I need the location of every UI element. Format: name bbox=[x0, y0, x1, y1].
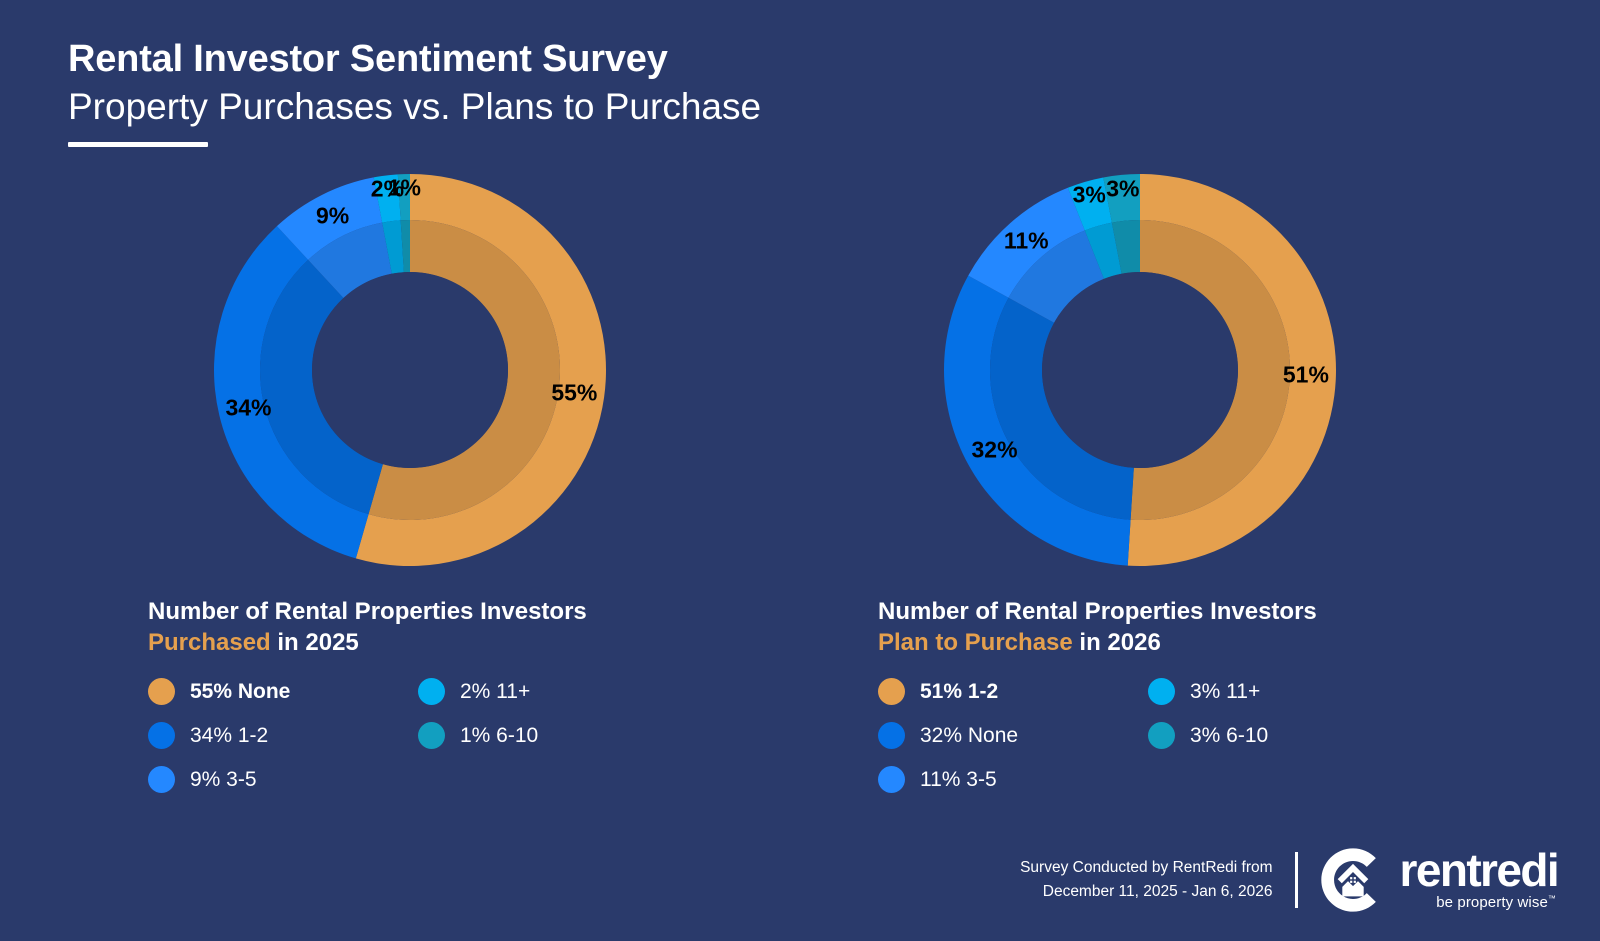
legend-item[interactable]: 3% 6-10 bbox=[1148, 722, 1418, 749]
legend-item-label: 55% None bbox=[190, 680, 290, 704]
donut-svg bbox=[940, 170, 1340, 570]
legend-item[interactable]: 9% 3-5 bbox=[148, 766, 418, 793]
rentredi-logo: rentredi be property wise™ bbox=[1320, 847, 1558, 913]
header: Rental Investor Sentiment Survey Propert… bbox=[68, 40, 761, 147]
legend-title-line1: Number of Rental Properties Investors bbox=[148, 598, 587, 625]
legend-item[interactable]: 51% 1-2 bbox=[878, 678, 1148, 705]
legend-item-label: 1% 6-10 bbox=[460, 724, 538, 748]
legend-item[interactable]: 1% 6-10 bbox=[418, 722, 688, 749]
legend-color-swatch-icon bbox=[148, 678, 175, 705]
legend-color-swatch-icon bbox=[878, 722, 905, 749]
footer: Survey Conducted by RentRedi from Decemb… bbox=[1020, 847, 1558, 913]
legend-color-swatch-icon bbox=[418, 678, 445, 705]
donut-center-hole bbox=[1042, 272, 1238, 468]
legend-item[interactable]: 3% 11+ bbox=[1148, 678, 1418, 705]
legend-grid-plan-2026: 51% 1-23% 11+32% None3% 6-1011% 3-5 bbox=[878, 678, 1490, 793]
survey-attribution: Survey Conducted by RentRedi from Decemb… bbox=[1020, 856, 1272, 904]
legend-color-swatch-icon bbox=[878, 766, 905, 793]
infographic-canvas: Rental Investor Sentiment Survey Propert… bbox=[0, 0, 1600, 941]
legend-color-swatch-icon bbox=[878, 678, 905, 705]
legend-item[interactable]: 34% 1-2 bbox=[148, 722, 418, 749]
legend-spacer bbox=[1148, 766, 1418, 793]
chart-panel-plan-2026: 51%32%11%3%3% Number of Rental Propertie… bbox=[790, 170, 1490, 793]
legend-item[interactable]: 11% 3-5 bbox=[878, 766, 1148, 793]
legend-purchased-2025: Number of Rental Properties Investors Pu… bbox=[60, 596, 760, 793]
legend-item-label: 11% 3-5 bbox=[920, 768, 997, 792]
legend-title-highlight: Plan to Purchase bbox=[878, 629, 1073, 656]
logo-tagline: be property wise™ bbox=[1436, 894, 1556, 911]
title-underline-rule bbox=[68, 142, 208, 147]
legend-color-swatch-icon bbox=[148, 766, 175, 793]
legend-item-label: 3% 6-10 bbox=[1190, 724, 1268, 748]
legend-item-label: 51% 1-2 bbox=[920, 680, 998, 704]
logo-word: rentredi bbox=[1400, 849, 1558, 893]
legend-item[interactable]: 2% 11+ bbox=[418, 678, 688, 705]
legend-title-highlight: Purchased bbox=[148, 629, 271, 656]
legend-color-swatch-icon bbox=[1148, 678, 1175, 705]
legend-item-label: 32% None bbox=[920, 724, 1018, 748]
donut-center-hole bbox=[312, 272, 508, 468]
footer-divider bbox=[1295, 852, 1298, 908]
legend-grid-purchased-2025: 55% None2% 11+34% 1-21% 6-109% 3-5 bbox=[148, 678, 760, 793]
legend-item-label: 2% 11+ bbox=[460, 680, 530, 704]
attribution-line-1: Survey Conducted by RentRedi from bbox=[1020, 856, 1272, 880]
legend-title-purchased-2025: Number of Rental Properties Investors Pu… bbox=[148, 596, 760, 658]
legend-title-line1: Number of Rental Properties Investors bbox=[878, 598, 1317, 625]
donut-chart-plan-2026: 51%32%11%3%3% bbox=[940, 170, 1340, 570]
legend-color-swatch-icon bbox=[1148, 722, 1175, 749]
page-subtitle: Property Purchases vs. Plans to Purchase bbox=[68, 86, 761, 129]
legend-item-label: 3% 11+ bbox=[1190, 680, 1260, 704]
legend-item-label: 9% 3-5 bbox=[190, 768, 257, 792]
legend-color-swatch-icon bbox=[148, 722, 175, 749]
rentredi-wordmark: rentredi be property wise™ bbox=[1400, 849, 1558, 912]
legend-title-plan-2026: Number of Rental Properties Investors Pl… bbox=[878, 596, 1490, 658]
logo-tagline-text: be property wise bbox=[1436, 894, 1548, 911]
legend-item[interactable]: 32% None bbox=[878, 722, 1148, 749]
rentredi-house-circle-icon bbox=[1320, 847, 1386, 913]
chart-panel-purchased-2025: 55%34%9%2%1% Number of Rental Properties… bbox=[60, 170, 760, 793]
legend-item[interactable]: 55% None bbox=[148, 678, 418, 705]
attribution-line-2: December 11, 2025 - Jan 6, 2026 bbox=[1020, 880, 1272, 904]
page-title: Rental Investor Sentiment Survey bbox=[68, 40, 761, 80]
legend-item-label: 34% 1-2 bbox=[190, 724, 268, 748]
legend-title-suffix: in 2025 bbox=[271, 629, 359, 656]
donut-chart-purchased-2025: 55%34%9%2%1% bbox=[210, 170, 610, 570]
donut-svg bbox=[210, 170, 610, 570]
legend-color-swatch-icon bbox=[418, 722, 445, 749]
legend-title-suffix: in 2026 bbox=[1073, 629, 1161, 656]
legend-spacer bbox=[418, 766, 688, 793]
legend-plan-2026: Number of Rental Properties Investors Pl… bbox=[790, 596, 1490, 793]
